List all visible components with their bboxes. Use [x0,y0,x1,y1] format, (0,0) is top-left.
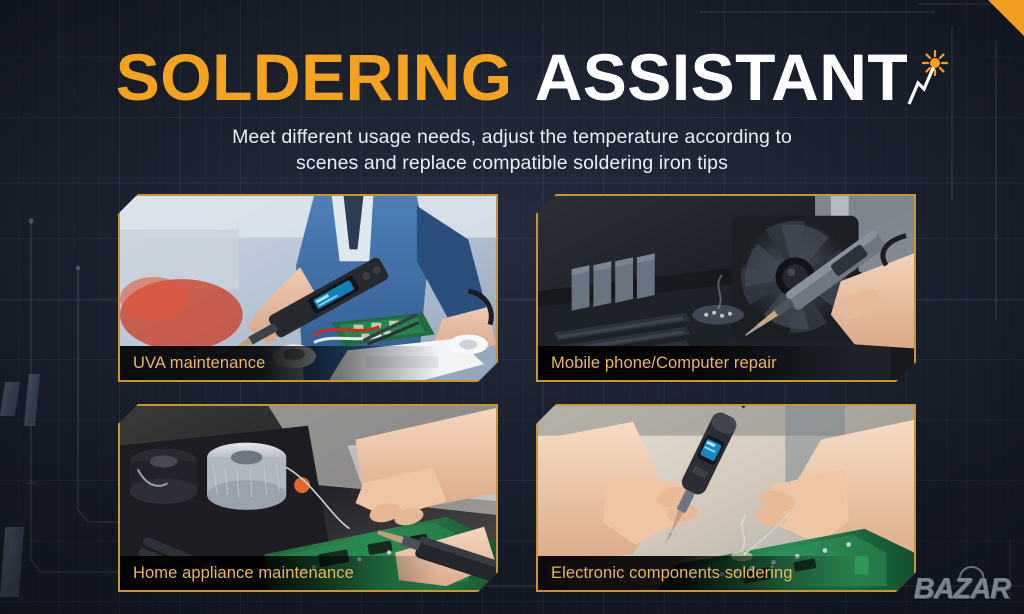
page-subtitle-line-1: Meet different usage needs, adjust the t… [0,124,1024,150]
scene-card-home-appliance-maintenance[interactable]: Home appliance maintenance [118,404,498,592]
scene-card-caption: Electronic components soldering [538,556,914,590]
scene-card-caption: UVA maintenance [120,346,496,380]
page-title-soldering: SOLDERING [116,40,513,114]
page-header: SOLDERINGASSISTANT Meet different usage … [0,44,1024,177]
page-subtitle-line-2: scenes and replace compatible soldering … [0,150,1024,176]
bazar-watermark: BAZAR [914,573,1011,606]
scene-card-caption: Mobile phone/Computer repair [538,346,914,380]
scene-card-caption: Home appliance maintenance [120,556,496,590]
page-title-assistant: ASSISTANT [535,40,909,114]
scene-card-uva-maintenance[interactable]: UVA maintenance [118,194,498,382]
page-title: SOLDERINGASSISTANT [116,44,908,110]
page-subtitle: Meet different usage needs, adjust the t… [0,124,1024,177]
scene-card-mobile-computer-repair[interactable]: Mobile phone/Computer repair [536,194,916,382]
scene-card-electronic-components-soldering[interactable]: Electronic components soldering [536,404,916,592]
corner-triangle-accent [988,0,1024,36]
soldering-spark-icon [904,50,948,106]
